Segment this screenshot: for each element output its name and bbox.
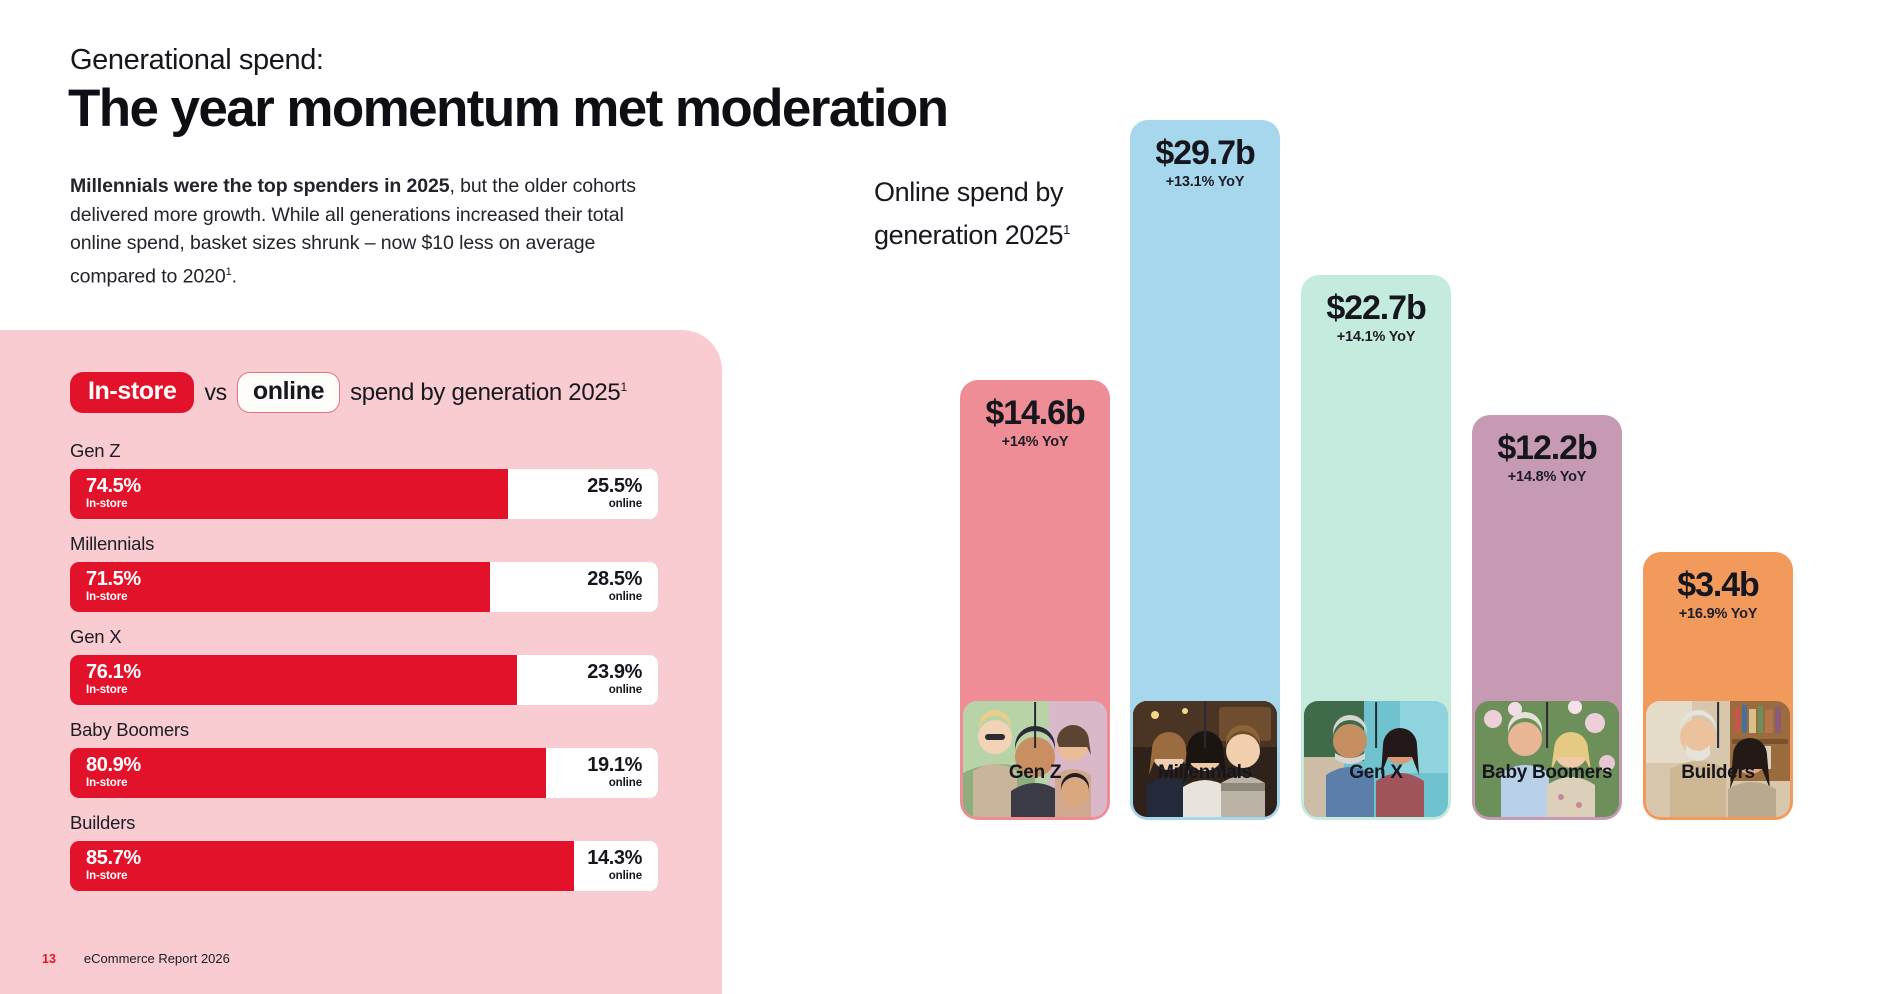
instore-sublabel: In-store [86, 776, 546, 791]
online-spend-column-chart: $14.6b +14% YoY [960, 60, 1890, 960]
online-segment: 28.5% online [490, 562, 658, 612]
page-number: 13 [42, 952, 56, 966]
page-footer: 13 eCommerce Report 2026 [42, 951, 230, 966]
report-name: eCommerce Report 2026 [84, 951, 230, 966]
column-category-label: Gen Z [1009, 762, 1061, 784]
column-bar: $14.6b +14% YoY [960, 380, 1110, 820]
instore-percent: 74.5% [86, 476, 508, 497]
split-bar-label: Gen Z [70, 440, 658, 462]
column-category-label: Baby Boomers [1482, 762, 1613, 784]
intro-paragraph: Millennials were the top spenders in 202… [70, 172, 670, 291]
column-leader-line [1375, 702, 1377, 748]
vs-label: vs [204, 379, 226, 406]
split-bar-label: Gen X [70, 626, 658, 648]
online-segment: 25.5% online [508, 469, 658, 519]
column-value: $14.6b [960, 380, 1110, 432]
split-bar-track: 74.5% In-store 25.5% online [70, 469, 658, 519]
split-bar-row: Gen X 76.1% In-store 23.9% online [70, 626, 658, 705]
online-percent: 19.1% [587, 755, 642, 776]
instore-percent: 80.9% [86, 755, 546, 776]
panel-heading-rest: spend by generation 20251 [350, 379, 627, 407]
column-growth: +14% YoY [960, 434, 1110, 450]
split-bar-track: 76.1% In-store 23.9% online [70, 655, 658, 705]
instore-pill: In-store [70, 372, 194, 413]
panel-footnote-marker: 1 [620, 380, 626, 394]
column-value: $22.7b [1301, 275, 1451, 327]
column-category-label: Gen X [1349, 762, 1402, 784]
column-bar: $12.2b +14.8% YoY [1472, 415, 1622, 820]
split-bar-row: Millennials 71.5% In-store 28.5% online [70, 533, 658, 612]
intro-period: . [232, 265, 237, 287]
column-value: $29.7b [1130, 120, 1280, 172]
column-growth: +14.8% YoY [1472, 469, 1622, 485]
split-bar-track: 71.5% In-store 28.5% online [70, 562, 658, 612]
online-percent: 23.9% [587, 662, 642, 683]
online-sublabel: online [609, 869, 642, 884]
online-percent: 25.5% [587, 476, 642, 497]
instore-sublabel: In-store [86, 497, 508, 512]
column-value: $3.4b [1643, 552, 1793, 604]
column-leader-line [1546, 702, 1548, 748]
split-bar-label: Builders [70, 812, 658, 834]
column-category-label: Builders [1681, 762, 1755, 784]
online-sublabel: online [609, 683, 642, 698]
split-bar-label: Millennials [70, 533, 658, 555]
split-bar-track: 80.9% In-store 19.1% online [70, 748, 658, 798]
online-segment: 23.9% online [517, 655, 658, 705]
online-segment: 19.1% online [546, 748, 658, 798]
instore-segment: 85.7% In-store [70, 841, 574, 891]
online-percent: 28.5% [587, 569, 642, 590]
column-growth: +16.9% YoY [1643, 606, 1793, 622]
intro-bold-lead: Millennials were the top spenders in 202… [70, 175, 450, 197]
column-leader-line [1717, 702, 1719, 748]
column-leader-line [1204, 702, 1206, 748]
split-bar-row: Builders 85.7% In-store 14.3% online [70, 812, 658, 891]
column-value: $12.2b [1472, 415, 1622, 467]
column-growth: +13.1% YoY [1130, 174, 1280, 190]
slide-page: Generational spend: The year momentum me… [0, 0, 1890, 994]
column-growth: +14.1% YoY [1301, 329, 1451, 345]
instore-segment: 71.5% In-store [70, 562, 490, 612]
split-bar-row: Baby Boomers 80.9% In-store 19.1% online [70, 719, 658, 798]
panel-heading: In-store vs online spend by generation 2… [70, 372, 627, 413]
online-sublabel: online [609, 590, 642, 605]
chart-column-gen-z: $14.6b +14% YoY [960, 380, 1110, 820]
page-eyebrow: Generational spend: [70, 44, 324, 77]
split-bar-row: Gen Z 74.5% In-store 25.5% online [70, 440, 658, 519]
online-segment: 14.3% online [574, 841, 658, 891]
instore-segment: 74.5% In-store [70, 469, 508, 519]
column-leader-line [1034, 702, 1036, 748]
split-bar-label: Baby Boomers [70, 719, 658, 741]
instore-percent: 85.7% [86, 848, 574, 869]
online-sublabel: online [609, 497, 642, 512]
chart-column-builders: $3.4b +16.9% YoY [1643, 552, 1793, 820]
split-bar-track: 85.7% In-store 14.3% online [70, 841, 658, 891]
page-title: The year momentum met moderation [68, 78, 947, 139]
instore-percent: 76.1% [86, 662, 517, 683]
split-bars-list: Gen Z 74.5% In-store 25.5% online Millen… [70, 440, 658, 905]
chart-column-gen-x: $22.7b +14.1% YoY [1301, 275, 1451, 820]
instore-segment: 80.9% In-store [70, 748, 546, 798]
instore-segment: 76.1% In-store [70, 655, 517, 705]
instore-sublabel: In-store [86, 590, 490, 605]
instore-sublabel: In-store [86, 869, 574, 884]
online-pill: online [237, 372, 340, 413]
online-percent: 14.3% [587, 848, 642, 869]
panel-heading-text: spend by generation 2025 [350, 379, 620, 406]
instore-percent: 71.5% [86, 569, 490, 590]
chart-column-baby-boomers: $12.2b +14.8% YoY [1472, 415, 1622, 820]
chart-column-millennials: $29.7b +13.1% YoY [1130, 120, 1280, 820]
online-sublabel: online [609, 776, 642, 791]
instore-sublabel: In-store [86, 683, 517, 698]
column-category-label: Millennials [1158, 762, 1252, 784]
